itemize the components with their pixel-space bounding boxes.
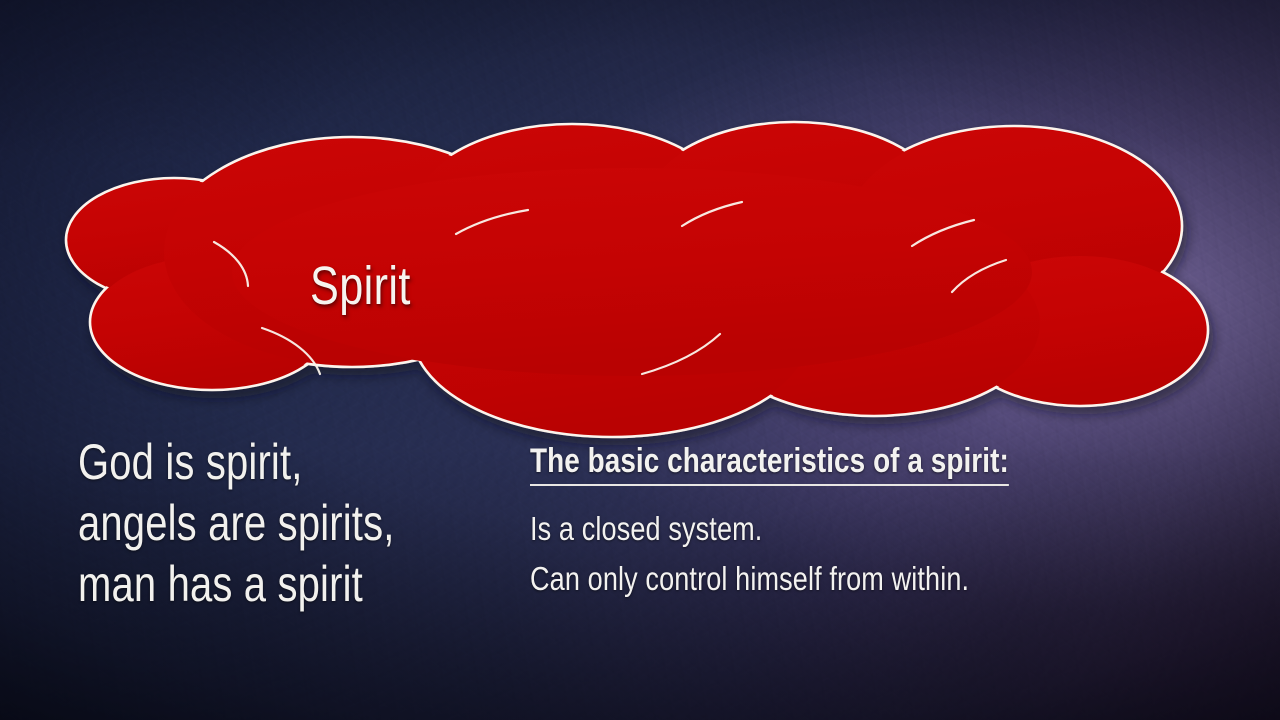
presentation-slide: Spirit God is spirit, angels are spirits… [0, 0, 1280, 720]
characteristic-item-1: Is a closed system. [530, 504, 1071, 554]
left-line-3: man has a spirit [78, 554, 422, 615]
cloud-shape-svg [52, 74, 1222, 394]
left-line-2: angels are spirits, [78, 493, 422, 554]
cloud-title-text: Spirit [310, 258, 411, 315]
left-statement-block: God is spirit, angels are spirits, man h… [78, 432, 422, 615]
left-line-1: God is spirit, [78, 432, 422, 493]
characteristics-heading: The basic characteristics of a spirit: [530, 442, 1009, 486]
right-characteristics-block: The basic characteristics of a spirit: I… [530, 442, 1071, 604]
cloud-shape-container[interactable]: Spirit [52, 74, 1222, 394]
characteristic-item-2: Can only control himself from within. [530, 554, 1071, 604]
right-heading-wrap: The basic characteristics of a spirit: [530, 442, 1071, 504]
